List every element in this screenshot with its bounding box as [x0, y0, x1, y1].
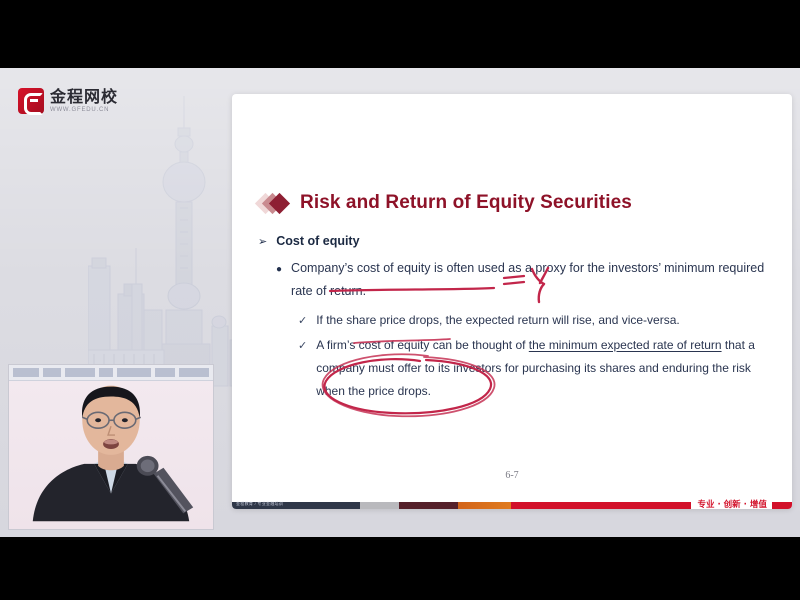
- lecture-stage: 金程网校 WWW.GFEDU.CN: [0, 68, 800, 537]
- footer-segment-grey: [360, 502, 399, 509]
- slide-footer-bar: 金程教育 / 专业金融培训 专业 · 创新 · 增值: [232, 489, 792, 509]
- footer-slogan: 专业 · 创新 · 增值: [691, 501, 772, 510]
- brand-name-cn: 金程网校: [50, 89, 118, 105]
- bullet-level2-proxy-statement: ● Company’s cost of equity is often used…: [276, 257, 774, 303]
- brand-logo: 金程网校 WWW.GFEDU.CN: [18, 88, 118, 114]
- bullet-level3-minimum-expected-rate: ✓ A firm’s cost of equity can be thought…: [298, 334, 774, 404]
- footer-segment-dark: 金程教育 / 专业金融培训: [232, 502, 360, 509]
- bullet-text-underlined: the minimum expected rate of return: [529, 338, 722, 352]
- slide-title-row: Risk and Return of Equity Securities: [258, 192, 632, 214]
- page-title: Risk and Return of Equity Securities: [300, 192, 632, 214]
- bullet-text-part1: A firm’s cost of equity can be thought o…: [316, 338, 529, 352]
- bullet-text: Company’s cost of equity is often used a…: [291, 257, 774, 303]
- footer-segment-orange: [458, 502, 511, 509]
- footer-segment-red: [511, 502, 691, 509]
- shanghai-skyline-watermark-icon: [88, 88, 253, 388]
- footer-segment-maroon: [399, 502, 458, 509]
- footer-micro-text: 金程教育 / 专业金融培训: [236, 501, 283, 507]
- bullet-text: Cost of equity: [276, 234, 359, 248]
- bullet-level1-cost-of-equity: ➢ Cost of equity: [258, 234, 774, 248]
- presenter-video-panel: [8, 364, 214, 530]
- slide-page-number: 6-7: [232, 470, 792, 481]
- bullet-level3-share-price-drops: ✓ If the share price drops, the expected…: [298, 309, 774, 332]
- letterbox-top: [0, 0, 800, 68]
- video-player-viewport: 金程网校 WWW.GFEDU.CN: [0, 0, 800, 600]
- letterbox-bottom: [0, 537, 800, 600]
- bullet-text: A firm’s cost of equity can be thought o…: [316, 334, 774, 404]
- slide-body: ➢ Cost of equity ● Company’s cost of equ…: [258, 234, 774, 405]
- presenter-figure: [9, 365, 213, 529]
- diamond-bullet-icon: [258, 192, 290, 214]
- check-bullet-icon: ✓: [298, 316, 307, 327]
- gfedu-logo-mark-icon: [18, 88, 44, 114]
- disc-bullet-icon: ●: [276, 265, 282, 275]
- presentation-slide: Risk and Return of Equity Securities ➢ C…: [232, 94, 792, 509]
- footer-slogan-cap: [772, 502, 792, 509]
- arrow-bullet-icon: ➢: [258, 237, 267, 248]
- bullet-text: If the share price drops, the expected r…: [316, 309, 680, 332]
- brand-website-url: WWW.GFEDU.CN: [50, 107, 118, 113]
- check-bullet-icon: ✓: [298, 341, 307, 352]
